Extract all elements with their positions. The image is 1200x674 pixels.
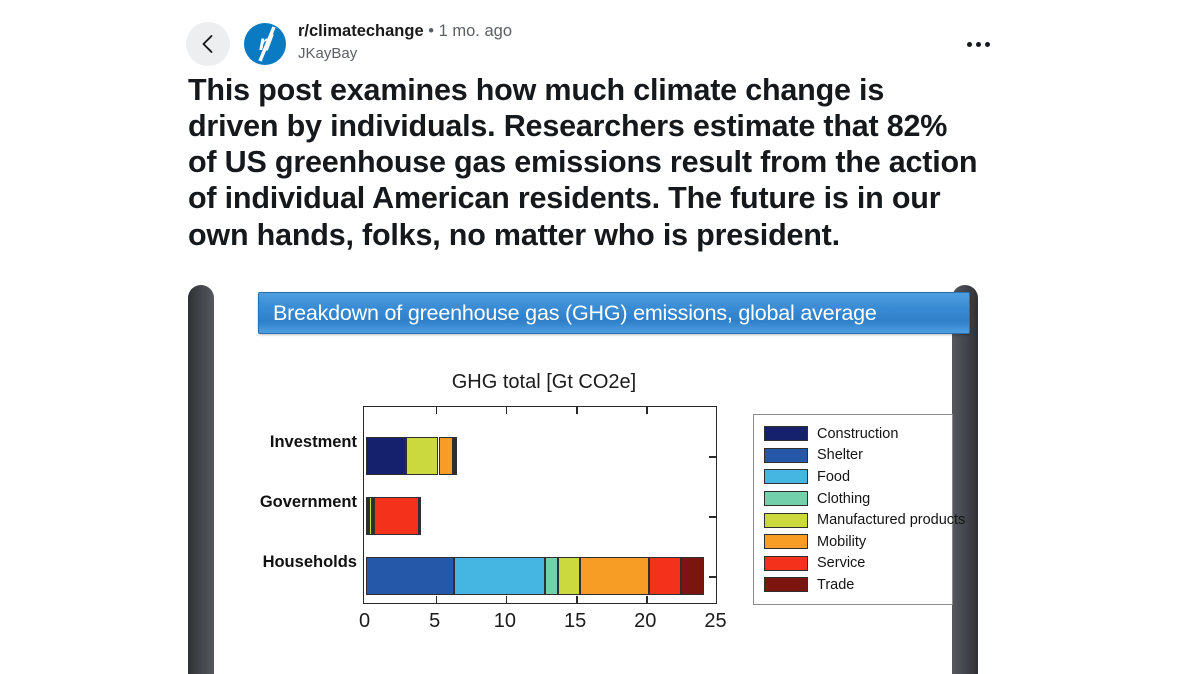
legend-label: Trade — [817, 577, 854, 593]
more-options-button[interactable] — [958, 32, 998, 56]
legend-item: Manufactured products — [754, 509, 952, 531]
bar-segment-construction — [366, 437, 407, 475]
slide-banner-title: Breakdown of greenhouse gas (GHG) emissi… — [273, 301, 877, 326]
back-button[interactable] — [186, 22, 230, 66]
chart-bar-households — [366, 557, 717, 595]
bar-segment-manufactured-products — [558, 557, 580, 595]
more-options-icon — [985, 42, 990, 47]
post-header: r/ r/climatechange • 1 mo. ago JKayBay — [186, 22, 986, 74]
chart-bar-government — [366, 497, 717, 535]
legend-label: Food — [817, 469, 850, 485]
legend-item: Clothing — [754, 488, 952, 510]
bar-segment-mobility — [580, 557, 649, 595]
legend-label: Construction — [817, 426, 898, 442]
screenshot-root: r/ r/climatechange • 1 mo. ago JKayBay T… — [0, 0, 1200, 674]
x-axis-tick — [506, 407, 508, 414]
x-axis-tick — [436, 596, 438, 603]
post-author[interactable]: JKayBay — [298, 44, 512, 64]
meta-separator: • — [428, 22, 434, 40]
legend-label: Clothing — [817, 491, 870, 507]
post-body-text: This post examines how much climate chan… — [188, 72, 978, 253]
more-options-icon — [967, 42, 972, 47]
chart-bar-investment — [366, 437, 717, 475]
x-axis-tick — [506, 596, 508, 603]
legend-swatch-clothing — [764, 491, 808, 506]
image-letterbox-right — [952, 285, 978, 674]
x-axis-tick-label: 5 — [405, 610, 465, 633]
subreddit-avatar[interactable]: r/ — [244, 23, 286, 65]
chart-title: GHG total [Gt CO2e] — [364, 371, 724, 394]
bar-segment-mobility — [439, 437, 453, 475]
bar-segment-trade — [455, 437, 458, 475]
legend-item: Construction — [754, 423, 952, 445]
legend-swatch-mobility — [764, 534, 808, 549]
post-age: 1 mo. ago — [439, 22, 512, 40]
more-options-icon — [976, 42, 981, 47]
x-axis-tick-label: 0 — [335, 610, 395, 633]
legend-item: Trade — [754, 574, 952, 596]
bar-segment-trade — [681, 557, 703, 595]
legend-item: Mobility — [754, 531, 952, 553]
x-axis-tick — [646, 407, 648, 414]
legend-swatch-construction — [764, 426, 808, 441]
avatar-label: r/ — [244, 23, 286, 65]
bar-segment-shelter — [366, 557, 454, 595]
slide-banner: Breakdown of greenhouse gas (GHG) emissi… — [258, 292, 970, 334]
category-label-investment: Investment — [270, 433, 357, 452]
bar-segment-trade — [419, 497, 421, 535]
x-axis-tick — [646, 596, 648, 603]
bar-segment-service — [374, 497, 419, 535]
x-axis-tick — [576, 407, 578, 414]
chart-legend: ConstructionShelterFoodClothingManufactu… — [753, 414, 953, 605]
category-label-households: Households — [263, 553, 357, 572]
category-label-government: Government — [260, 493, 357, 512]
slide-content: Breakdown of greenhouse gas (GHG) emissi… — [216, 277, 950, 674]
post-image-embed[interactable]: Breakdown of greenhouse gas (GHG) emissi… — [188, 277, 978, 674]
legend-swatch-manufactured-products — [764, 513, 808, 528]
post-meta: r/climatechange • 1 mo. ago JKayBay — [298, 21, 512, 64]
legend-item: Food — [754, 466, 952, 488]
arrow-left-icon — [195, 31, 221, 57]
legend-swatch-shelter — [764, 448, 808, 463]
subreddit-link[interactable]: r/climatechange — [298, 22, 424, 40]
x-axis-tick — [436, 407, 438, 414]
legend-swatch-trade — [764, 577, 808, 592]
legend-label: Manufactured products — [817, 512, 965, 528]
legend-label: Service — [817, 555, 865, 571]
x-axis-tick-label: 10 — [475, 610, 535, 633]
chart-category-labels: Investment Government Households — [216, 406, 357, 604]
x-axis-tick-label: 15 — [545, 610, 605, 633]
chart-plot-area — [363, 406, 717, 604]
bar-segment-manufactured-products — [406, 437, 438, 475]
legend-label: Shelter — [817, 447, 863, 463]
legend-item: Service — [754, 553, 952, 575]
bar-segment-clothing — [545, 557, 558, 595]
x-axis-tick-label: 20 — [615, 610, 675, 633]
x-axis-tick — [576, 596, 578, 603]
legend-item: Shelter — [754, 445, 952, 467]
legend-swatch-food — [764, 469, 808, 484]
legend-label: Mobility — [817, 534, 866, 550]
x-axis-tick-label: 25 — [686, 610, 746, 633]
image-letterbox-left — [188, 285, 214, 674]
bar-segment-food — [454, 557, 545, 595]
legend-swatch-service — [764, 556, 808, 571]
bar-segment-service — [649, 557, 681, 595]
